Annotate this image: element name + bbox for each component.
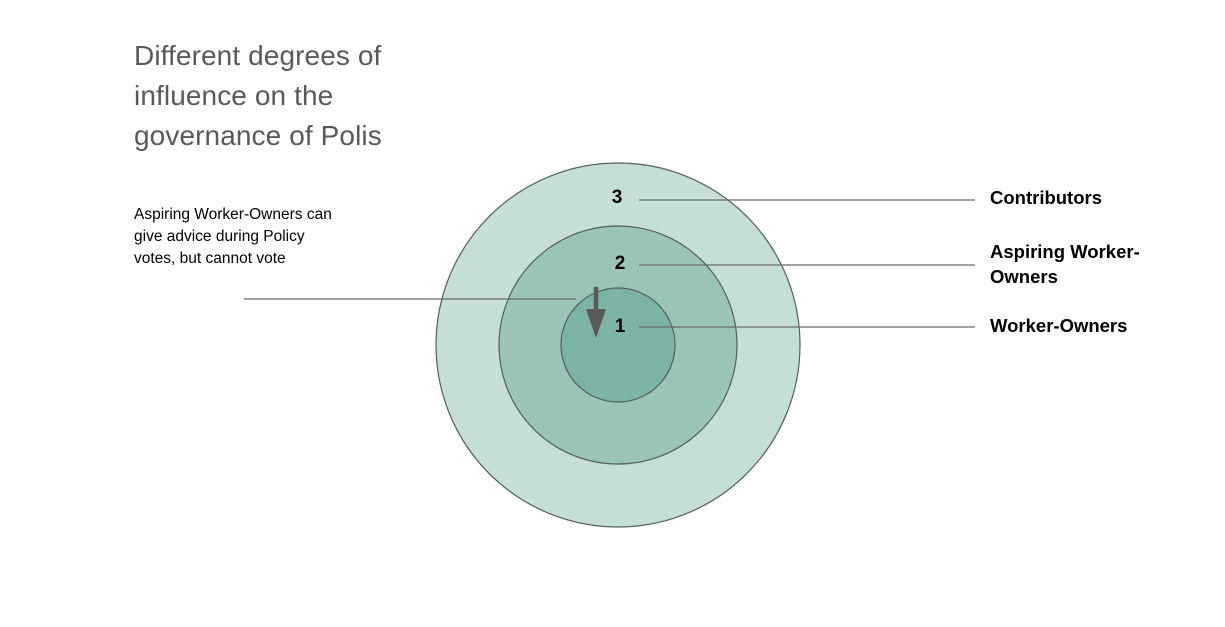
legend-label-aspiring-worker-owners[interactable]: Aspiring Worker- Owners (990, 239, 1195, 289)
legend-label-contributors[interactable]: Contributors (990, 185, 1210, 210)
ring-number-2: 2 (607, 253, 633, 275)
ring-number-3: 3 (604, 187, 630, 209)
ring-number-1: 1 (607, 316, 633, 338)
slide-canvas: Different degrees of influence on the go… (0, 0, 1225, 627)
legend-label-worker-owners[interactable]: Worker-Owners (990, 313, 1210, 338)
ring-worker-owners[interactable] (561, 288, 675, 402)
